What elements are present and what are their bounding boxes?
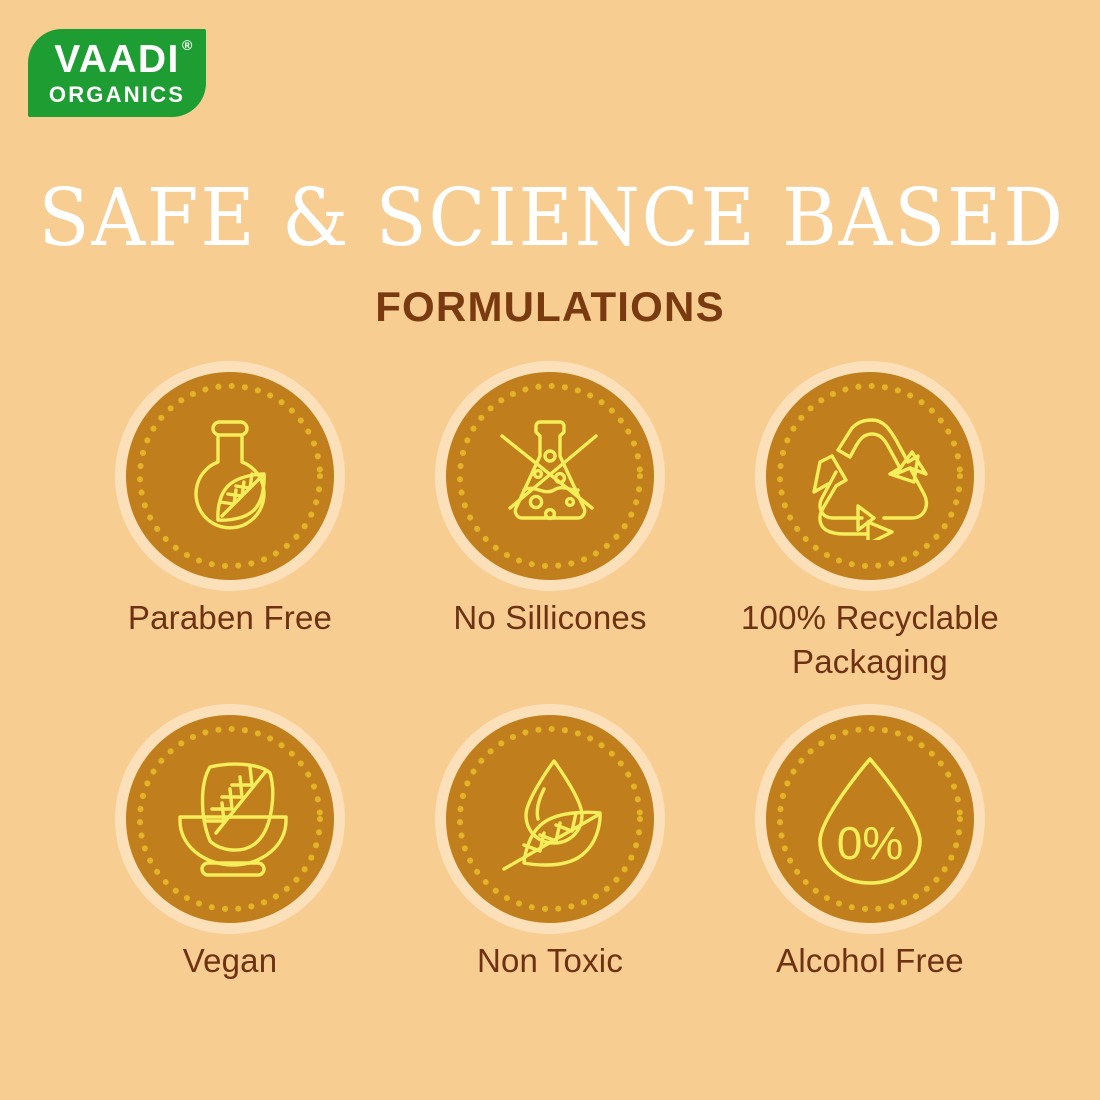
logo-brand-subtitle: ORGANICS bbox=[49, 83, 185, 107]
badge-label: 100% Recyclable Packaging bbox=[720, 596, 1020, 683]
zero-percent-label: 0% bbox=[837, 817, 903, 869]
badge-vegan[interactable] bbox=[126, 715, 334, 923]
badge-label: No Sillicones bbox=[453, 596, 646, 640]
feature-cell-alcohol-free[interactable]: 0% Alcohol Free bbox=[710, 715, 1030, 983]
flask-leaf-icon bbox=[166, 412, 294, 540]
feature-badge-grid: Paraben Free bbox=[70, 372, 1030, 983]
bowl-leaf-icon bbox=[166, 755, 294, 883]
badge-no-sillicones[interactable] bbox=[446, 372, 654, 580]
badge-paraben-free[interactable] bbox=[126, 372, 334, 580]
registered-trademark-icon: ® bbox=[182, 39, 194, 53]
recycle-icon bbox=[806, 412, 934, 540]
logo-text-block: VAADI ® ORGANICS bbox=[28, 29, 206, 117]
badge-label: Alcohol Free bbox=[776, 939, 964, 983]
badge-non-toxic[interactable] bbox=[446, 715, 654, 923]
feature-cell-recyclable-packaging[interactable]: 100% Recyclable Packaging bbox=[710, 372, 1030, 683]
page-title: SAFE & SCIENCE BASED bbox=[39, 178, 1062, 258]
badge-recyclable-packaging[interactable] bbox=[766, 372, 974, 580]
crossed-out-erlenmeyer-flask-icon bbox=[486, 412, 614, 540]
badge-alcohol-free[interactable]: 0% bbox=[766, 715, 974, 923]
droplet-leaf-icon bbox=[486, 755, 614, 883]
feature-cell-no-sillicones[interactable]: No Sillicones bbox=[390, 372, 710, 683]
badge-label: Paraben Free bbox=[128, 596, 332, 640]
feature-cell-non-toxic[interactable]: Non Toxic bbox=[390, 715, 710, 983]
page-subtitle: FORMULATIONS bbox=[0, 286, 1100, 328]
badge-label: Non Toxic bbox=[477, 939, 623, 983]
badge-label: Vegan bbox=[183, 939, 278, 983]
logo-brand-name-text: VAADI bbox=[54, 38, 179, 81]
droplet-zero-percent-icon: 0% bbox=[806, 755, 934, 883]
feature-cell-paraben-free[interactable]: Paraben Free bbox=[70, 372, 390, 683]
brand-logo[interactable]: VAADI ® ORGANICS bbox=[28, 29, 206, 117]
feature-cell-vegan[interactable]: Vegan bbox=[70, 715, 390, 983]
logo-brand-name: VAADI ® bbox=[54, 41, 179, 79]
